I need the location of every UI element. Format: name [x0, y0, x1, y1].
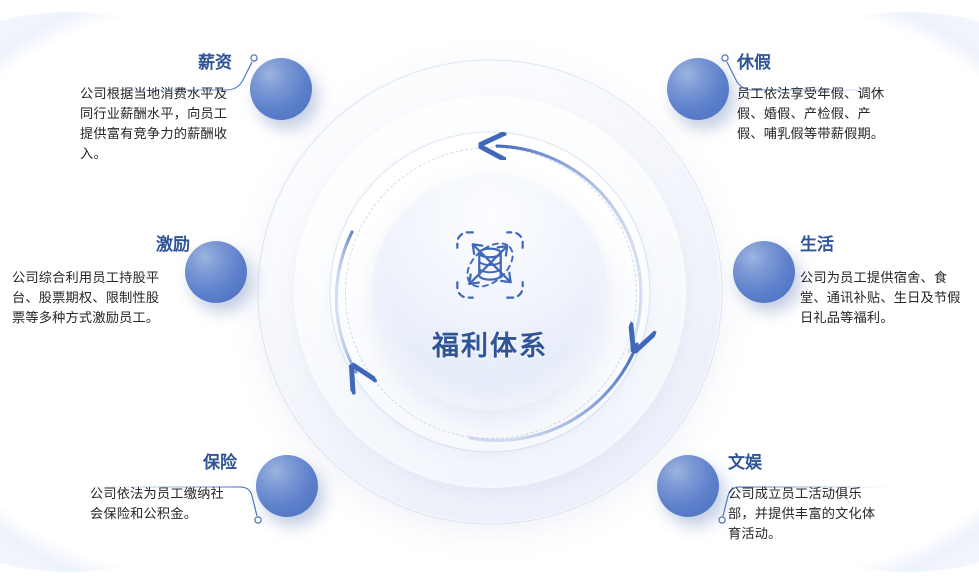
- node-sphere-vacation[interactable]: [667, 58, 729, 120]
- connector-dot-culture: [719, 517, 725, 523]
- connector-dot-vacation: [722, 55, 728, 61]
- node-sphere-life[interactable]: [733, 241, 795, 303]
- callout-title-life: 生活: [800, 234, 970, 256]
- center-hub: 福利体系: [372, 174, 608, 410]
- callout-vacation[interactable]: 休假 员工依法享受年假、调休假、婚假、产检假、产假、哺乳假等带薪假期。: [737, 52, 937, 144]
- node-sphere-culture[interactable]: [657, 455, 719, 517]
- callout-title-incentive: 激励: [18, 234, 190, 256]
- node-sphere-incentive[interactable]: [185, 241, 247, 303]
- callout-insurance[interactable]: 保险 公司依法为员工缴纳社会保险和公积金。: [52, 452, 237, 524]
- database-orbit-icon: [447, 222, 533, 308]
- callout-incentive[interactable]: 激励 公司综合利用员工持股平台、股票期权、限制性股票等多种方式激励员工。: [18, 234, 190, 328]
- center-title: 福利体系: [432, 324, 548, 363]
- callout-title-culture: 文娱: [728, 452, 928, 474]
- callout-culture[interactable]: 文娱 公司成立员工活动俱乐部，并提供丰富的文化体育活动。: [728, 452, 928, 544]
- callout-title-vacation: 休假: [737, 52, 937, 74]
- infographic-canvas: 福利体系 薪资 公司根据当地消费水平及同行业薪酬水平，向员工提供富有竞争力的薪酬…: [0, 0, 979, 584]
- callout-body-incentive: 公司综合利用员工持股平台、股票期权、限制性股票等多种方式激励员工。: [12, 268, 172, 328]
- node-sphere-insurance[interactable]: [256, 455, 318, 517]
- connector-dot-salary: [251, 55, 257, 61]
- callout-title-salary: 薪资: [42, 52, 232, 74]
- callout-body-insurance: 公司依法为员工缴纳社会保险和公积金。: [52, 484, 237, 524]
- callout-body-vacation: 员工依法享受年假、调休假、婚假、产检假、产假、哺乳假等带薪假期。: [737, 84, 887, 144]
- callout-body-salary: 公司根据当地消费水平及同行业薪酬水平，向员工提供富有竞争力的薪酬收入。: [42, 84, 232, 164]
- callout-life[interactable]: 生活 公司为员工提供宿舍、食堂、通讯补贴、生日及节假日礼品等福利。: [800, 234, 970, 328]
- node-sphere-salary[interactable]: [250, 58, 312, 120]
- connector-dot-insurance: [255, 517, 261, 523]
- callout-body-life: 公司为员工提供宿舍、食堂、通讯补贴、生日及节假日礼品等福利。: [800, 268, 965, 328]
- callout-body-culture: 公司成立员工活动俱乐部，并提供丰富的文化体育活动。: [728, 484, 878, 544]
- callout-salary[interactable]: 薪资 公司根据当地消费水平及同行业薪酬水平，向员工提供富有竞争力的薪酬收入。: [42, 52, 232, 164]
- arc-bottom-left: [336, 232, 356, 372]
- callout-title-insurance: 保险: [52, 452, 237, 474]
